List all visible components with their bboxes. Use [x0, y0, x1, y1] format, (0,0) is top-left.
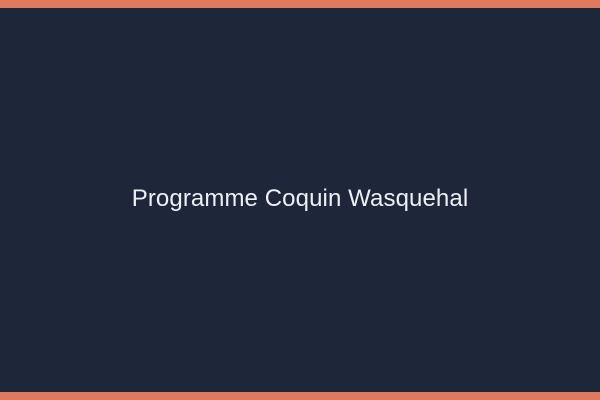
page-title: Programme Coquin Wasquehal: [0, 183, 600, 215]
bottom-accent-bar: [0, 392, 600, 400]
top-accent-bar: [0, 0, 600, 8]
placeholder-card: Programme Coquin Wasquehal: [0, 0, 600, 400]
